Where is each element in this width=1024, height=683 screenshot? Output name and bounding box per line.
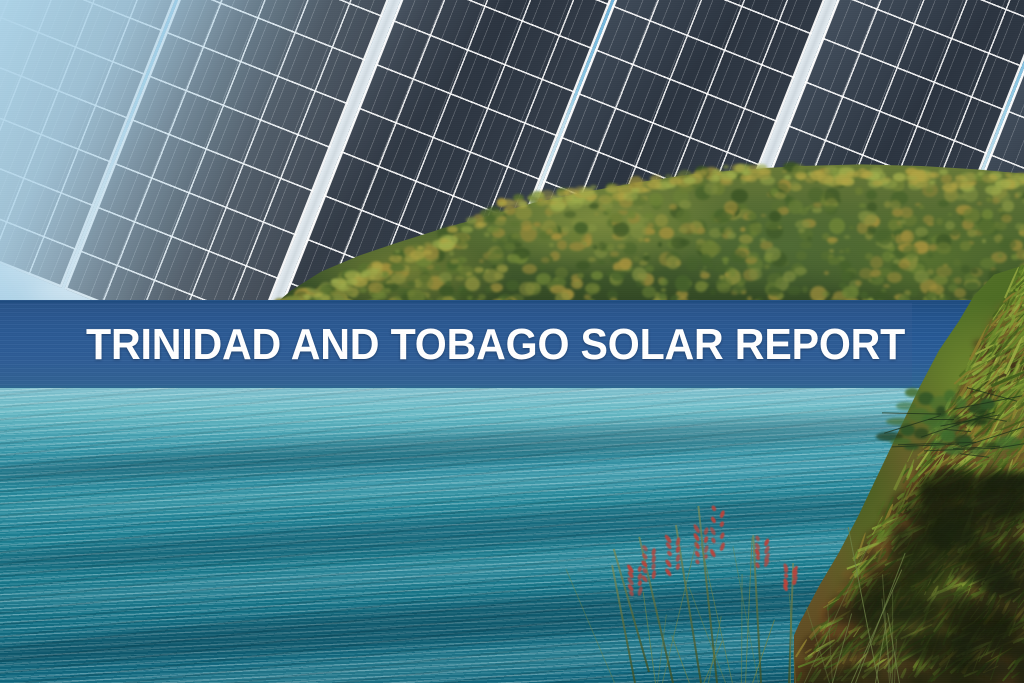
tree-canopy — [986, 197, 992, 202]
tree-canopy — [756, 224, 761, 227]
sunlit-canopy — [841, 178, 854, 186]
tree-canopy — [569, 242, 585, 251]
tree-canopy — [844, 235, 850, 239]
sunlit-canopy — [623, 192, 638, 201]
tree-canopy — [661, 288, 665, 291]
tree-canopy — [915, 227, 928, 238]
sunlit-canopy — [881, 179, 897, 189]
sunlit-canopy — [424, 242, 432, 247]
tree-canopy — [928, 253, 933, 257]
sunlit-canopy — [939, 169, 948, 174]
tree-canopy — [514, 242, 522, 247]
tree-canopy — [651, 230, 655, 233]
tree-canopy — [359, 287, 366, 293]
tree-canopy — [641, 217, 650, 223]
tree-canopy — [655, 214, 668, 227]
tree-canopy — [368, 282, 383, 293]
cliff-shadow-patch — [910, 557, 930, 573]
tree-canopy — [827, 237, 838, 243]
tree-canopy — [960, 241, 971, 250]
sunlit-canopy — [461, 226, 472, 233]
tree-canopy — [919, 205, 924, 208]
sunlit-canopy — [518, 201, 528, 207]
sunlit-canopy — [439, 238, 447, 243]
tree-canopy — [764, 264, 770, 270]
title-overlay-band: TRINIDAD AND TOBAGO SOLAR REPORT — [0, 303, 912, 386]
cliff-shadow-patch — [912, 664, 968, 683]
tree-canopy — [607, 290, 618, 300]
tree-canopy — [671, 237, 686, 249]
tree-canopy — [609, 244, 613, 248]
sunlit-canopy — [875, 174, 881, 177]
sunlit-canopy — [669, 177, 683, 185]
tree-canopy — [963, 208, 980, 223]
tree-canopy — [765, 247, 781, 261]
tree-canopy — [686, 257, 699, 270]
tree-canopy — [622, 266, 629, 270]
tree-canopy — [967, 229, 977, 237]
tree-canopy — [515, 206, 531, 220]
sunlit-canopy — [331, 278, 347, 288]
sunlit-canopy — [862, 171, 873, 178]
tree-canopy — [899, 220, 906, 224]
tree-canopy — [704, 183, 718, 195]
page-title: TRINIDAD AND TOBAGO SOLAR REPORT — [86, 323, 905, 367]
tree-canopy — [808, 187, 824, 202]
tree-canopy — [992, 197, 1001, 204]
tree-canopy — [627, 211, 636, 219]
tree-canopy — [485, 286, 491, 292]
tree-canopy — [466, 272, 472, 276]
sunlit-canopy — [447, 226, 459, 233]
tree-canopy — [644, 238, 651, 242]
tree-canopy — [855, 187, 863, 195]
tree-canopy — [610, 213, 623, 223]
tree-canopy — [796, 251, 807, 260]
tree-canopy — [800, 241, 812, 249]
tree-canopy — [637, 206, 643, 209]
tree-canopy — [649, 193, 662, 206]
sunlit-canopy — [650, 175, 662, 182]
tree-canopy — [750, 231, 757, 238]
sunlit-canopy — [647, 181, 661, 189]
tree-canopy — [549, 243, 554, 248]
tree-canopy — [761, 214, 765, 216]
tree-canopy — [538, 264, 546, 270]
tree-canopy — [859, 203, 866, 208]
tree-canopy — [978, 219, 995, 234]
tree-canopy — [613, 222, 629, 237]
tree-canopy — [703, 266, 707, 269]
tree-canopy — [492, 210, 504, 217]
tree-canopy — [390, 263, 405, 272]
twig — [928, 419, 954, 420]
cliff-shadow-patch — [929, 624, 948, 648]
tree-canopy — [774, 192, 786, 199]
tree-canopy — [1002, 200, 1014, 211]
tree-canopy — [578, 273, 584, 278]
sunlit-canopy — [503, 209, 509, 212]
tree-canopy — [876, 229, 892, 244]
tree-canopy — [1016, 192, 1024, 197]
tree-canopy — [936, 218, 943, 224]
tree-canopy — [749, 268, 763, 280]
tree-canopy — [866, 190, 877, 200]
tree-canopy — [795, 220, 810, 229]
sunlit-canopy — [527, 196, 533, 200]
cliff-shadow-patch — [907, 488, 938, 525]
tree-canopy — [589, 292, 593, 295]
sunlit-canopy — [477, 222, 486, 228]
sunlit-canopy — [723, 165, 729, 169]
tree-canopy — [678, 227, 688, 233]
tree-canopy — [999, 238, 1016, 250]
tree-canopy — [768, 287, 780, 295]
sunlit-canopy — [372, 262, 383, 269]
tree-canopy — [982, 239, 986, 243]
tree-canopy — [926, 188, 932, 192]
tree-canopy — [633, 256, 639, 262]
tree-canopy — [860, 211, 876, 225]
sunlit-canopy — [784, 175, 792, 180]
tree-canopy — [824, 205, 835, 212]
sunlit-canopy — [564, 195, 574, 201]
tree-canopy — [945, 221, 954, 230]
tree-canopy — [484, 232, 489, 237]
sunlit-canopy — [362, 270, 370, 275]
tree-canopy — [594, 212, 599, 215]
tree-canopy — [724, 201, 737, 214]
tree-canopy — [724, 227, 733, 236]
cliff-shadow-patch — [979, 662, 1024, 674]
tree-canopy — [695, 281, 707, 292]
tree-canopy — [740, 227, 746, 232]
sunlit-canopy — [805, 176, 817, 183]
sunlit-canopy — [417, 246, 424, 250]
sunlit-canopy — [346, 278, 357, 285]
tree-canopy — [557, 240, 567, 250]
sunlit-canopy — [683, 177, 696, 185]
sunlit-canopy — [926, 172, 936, 178]
tree-canopy — [465, 277, 480, 291]
tree-canopy — [439, 285, 454, 296]
cliff-shadow-patch — [955, 646, 987, 660]
tree-canopy — [747, 213, 756, 220]
tree-canopy — [541, 257, 550, 263]
sunlit-canopy — [579, 187, 595, 197]
tree-canopy — [598, 242, 607, 251]
tree-canopy — [710, 289, 717, 295]
tree-canopy — [446, 281, 451, 286]
tree-canopy — [455, 276, 465, 282]
sunlit-canopy — [303, 294, 310, 298]
tree-canopy — [717, 283, 730, 293]
tree-canopy — [788, 200, 803, 214]
tree-canopy — [994, 222, 1007, 231]
sunlit-canopy — [1020, 180, 1024, 184]
tree-canopy — [435, 265, 441, 271]
tree-canopy — [488, 251, 505, 265]
tree-canopy — [778, 226, 782, 228]
tree-canopy — [849, 226, 854, 230]
sunlit-canopy — [910, 171, 922, 178]
tree-canopy — [948, 213, 952, 216]
tree-canopy — [562, 226, 570, 233]
tree-canopy — [585, 233, 591, 239]
tree-canopy — [936, 242, 951, 253]
sunlit-canopy — [756, 171, 770, 180]
tree-canopy — [1019, 231, 1024, 235]
tree-canopy — [727, 214, 733, 218]
tree-canopy — [449, 251, 454, 256]
sunlit-canopy — [404, 254, 419, 263]
tree-canopy — [623, 242, 636, 255]
tree-canopy — [490, 283, 503, 292]
tree-canopy — [411, 265, 419, 271]
tree-canopy — [407, 290, 415, 298]
tree-canopy — [498, 241, 505, 246]
tree-canopy — [700, 272, 710, 279]
tree-canopy — [606, 208, 611, 213]
tree-canopy — [679, 200, 691, 208]
sunlit-canopy — [534, 192, 544, 198]
tree-canopy — [901, 230, 914, 243]
tree-canopy — [900, 207, 913, 218]
tree-canopy — [407, 281, 416, 286]
tree-canopy — [506, 280, 520, 291]
tree-canopy — [676, 209, 690, 223]
tree-canopy — [519, 282, 535, 297]
tree-canopy — [636, 280, 645, 288]
tree-canopy — [610, 251, 619, 257]
cliff-shadow-patch — [974, 492, 1018, 512]
red-floret — [651, 563, 656, 570]
tree-canopy — [696, 242, 709, 251]
tree-canopy — [507, 254, 520, 263]
hero-banner: TRINIDAD AND TOBAGO SOLAR REPORT — [0, 0, 1024, 683]
tree-canopy — [494, 272, 504, 280]
tree-canopy — [617, 244, 625, 249]
tree-canopy — [479, 259, 484, 263]
sunlit-canopy — [817, 174, 833, 184]
tree-canopy — [658, 242, 663, 247]
tree-canopy — [812, 207, 821, 213]
tree-canopy — [417, 274, 433, 290]
sunlit-canopy — [929, 181, 935, 185]
